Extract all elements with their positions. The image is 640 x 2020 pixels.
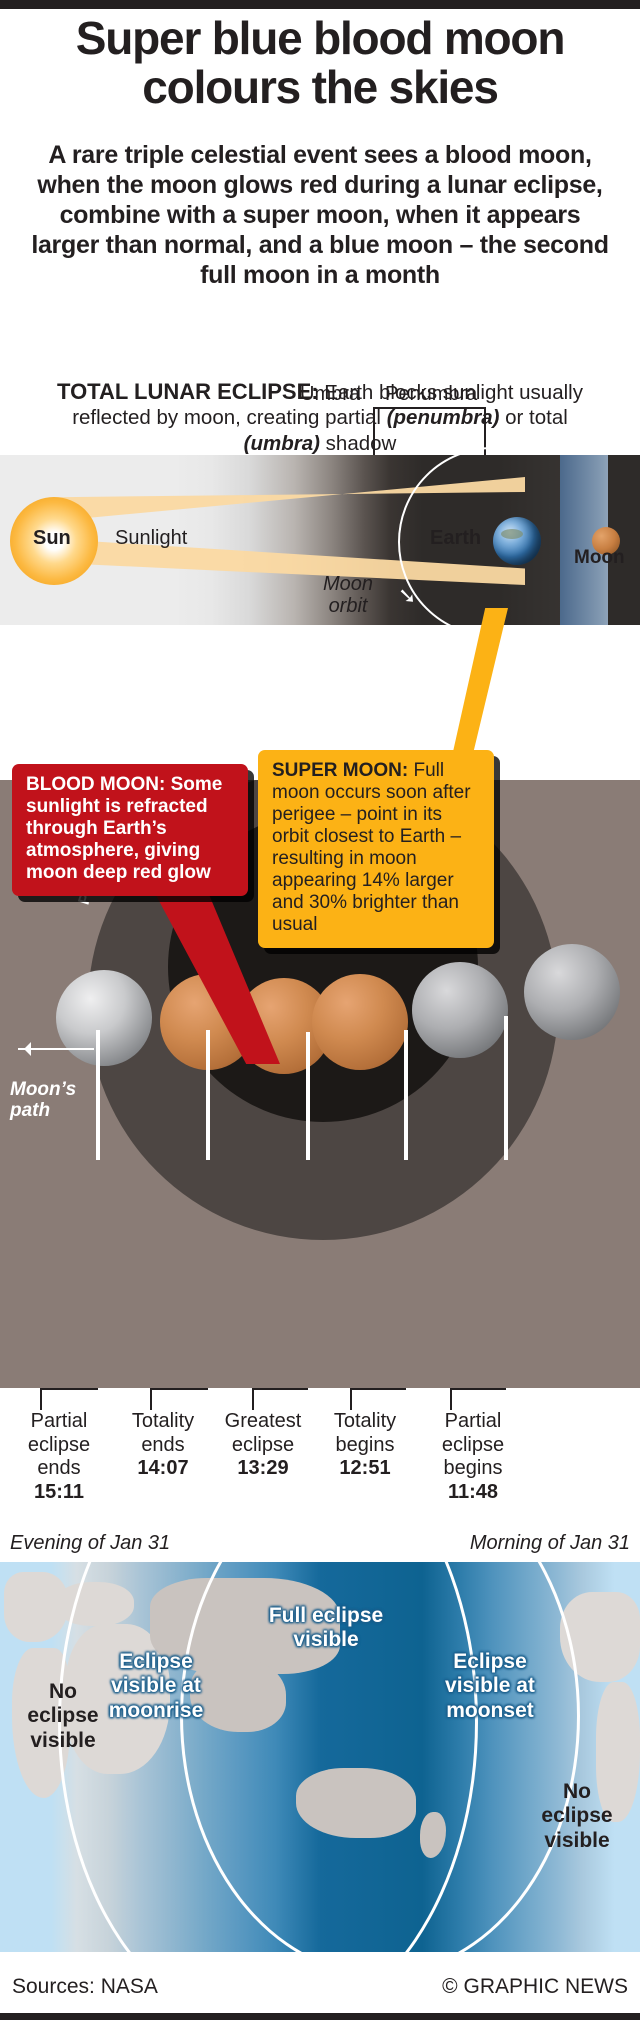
map-label-moonrise: Eclipse visible at moonrise: [86, 1650, 226, 1723]
tick-greatest: [306, 1032, 310, 1160]
umbra-leader-line: [373, 407, 375, 461]
timeline-line1: Partial: [31, 1410, 88, 1432]
page-title: Super blue blood moon colours the skies: [0, 14, 640, 112]
hook-v-1: [150, 1388, 152, 1410]
standfirst-text: A rare triple celestial event sees a blo…: [28, 140, 612, 290]
timeline-time: 11:48: [418, 1481, 528, 1505]
eclipse-caption-body-3: shadow: [320, 432, 396, 455]
blood-moon-callout: BLOOD MOON: Some sunlight is refracted t…: [12, 764, 248, 896]
eclipse-timeline: Partial eclipse ends 15:11 Totality ends…: [0, 1388, 640, 1518]
umbra-leader-line-h: [373, 407, 449, 409]
hook-v-4: [450, 1388, 452, 1410]
super-moon-title: SUPER MOON:: [272, 760, 408, 781]
timeline-line1: Partial: [445, 1410, 502, 1432]
timeline-line3: ends: [37, 1457, 80, 1479]
moon-orbit-label: Moon orbit: [323, 573, 373, 617]
moon-orbit-line2: orbit: [329, 595, 368, 617]
morning-label: Morning of Jan 31: [470, 1532, 630, 1555]
timeline-line1: Greatest: [225, 1410, 302, 1432]
credit-label: © GRAPHIC NEWS: [442, 1975, 628, 1999]
hook-h-3: [350, 1388, 406, 1390]
moon-phase-partial-begin: [412, 962, 508, 1058]
moons-path-label: Moon’s path: [10, 1080, 76, 1122]
timeline-item: Totality begins 12:51: [310, 1410, 420, 1481]
sun-earth-moon-diagram: Umbra Penumbra ➘ Sun Sunlight Earth Moon…: [0, 455, 640, 625]
moon-phase-totality-begin: [312, 974, 408, 1070]
timeline-line2: eclipse: [232, 1434, 294, 1456]
timeline-item: Totality ends 14:07: [108, 1410, 218, 1481]
hook-h-1: [150, 1388, 208, 1390]
sun-label: Sun: [33, 527, 71, 550]
orbit-arrow-icon: ➘: [398, 583, 416, 609]
hook-h-4: [450, 1388, 506, 1390]
timeline-line2: begins: [336, 1434, 395, 1456]
visibility-map: No eclipse visible Eclipse visible at mo…: [0, 1562, 640, 1952]
tick-partial-end: [96, 1030, 100, 1160]
timeline-line3: begins: [444, 1457, 503, 1479]
timeline-item: Partial eclipse begins 11:48: [418, 1410, 528, 1504]
timeline-time: 14:07: [108, 1457, 218, 1481]
day-labels: Evening of Jan 31 Morning of Jan 31: [0, 1532, 640, 1555]
moon-phase-offscreen: [524, 944, 620, 1040]
moons-path-line1: Moon’s: [10, 1079, 76, 1100]
sources-label: Sources: NASA: [12, 1975, 158, 1999]
sunlight-label: Sunlight: [115, 527, 187, 550]
eclipse-caption-umbra: (umbra): [244, 432, 320, 455]
tick-totality-begin: [404, 1030, 408, 1160]
map-label-moonset: Eclipse visible at moonset: [420, 1650, 560, 1723]
top-rule: [0, 0, 640, 9]
timeline-item: Partial eclipse ends 15:11: [4, 1410, 114, 1504]
penumbra-leader-line-h: [448, 407, 486, 409]
footer: Sources: NASA © GRAPHIC NEWS: [0, 1961, 640, 2013]
timeline-line2: eclipse: [442, 1434, 504, 1456]
moon-label: Moon: [574, 547, 625, 569]
moon-phase-partial-end: [56, 970, 152, 1066]
timeline-line2: ends: [141, 1434, 184, 1456]
timeline-item: Greatest eclipse 13:29: [208, 1410, 318, 1481]
evening-label: Evening of Jan 31: [10, 1532, 170, 1555]
timeline-line2: eclipse: [28, 1434, 90, 1456]
hook-v-2: [252, 1388, 254, 1410]
timeline-line1: Totality: [132, 1410, 194, 1432]
map-label-full-eclipse: Full eclipse visible: [236, 1604, 416, 1653]
moon-path-arrow-icon: [18, 1048, 94, 1050]
hook-h-2: [252, 1388, 308, 1390]
map-label-no-eclipse-right: No eclipse visible: [528, 1780, 626, 1853]
earth-label: Earth: [430, 527, 481, 550]
tick-totality-end: [206, 1030, 210, 1160]
earth-icon: [493, 517, 541, 565]
tick-partial-begin: [504, 1016, 508, 1160]
timeline-time: 15:11: [4, 1481, 114, 1505]
hook-h-0: [40, 1388, 98, 1390]
super-moon-text: Full moon occurs soon after perigee – po…: [272, 760, 471, 935]
eclipse-caption-penumbra: (penumbra): [387, 406, 500, 429]
hook-v-3: [350, 1388, 352, 1410]
bottom-rule: [0, 2013, 640, 2020]
moon-orbit-line1: Moon: [323, 573, 373, 595]
timeline-time: 13:29: [208, 1457, 318, 1481]
umbra-label: Umbra: [300, 383, 360, 406]
moons-path-line2: path: [10, 1100, 50, 1121]
penumbra-label: Penumbra: [385, 383, 477, 406]
eclipse-caption-body-2: or total: [499, 406, 567, 429]
blood-moon-title: BLOOD MOON:: [26, 774, 165, 795]
hook-v-0: [40, 1388, 42, 1410]
timeline-line1: Totality: [334, 1410, 396, 1432]
eclipse-caption-title: TOTAL LUNAR ECLIPSE:: [57, 379, 319, 404]
super-moon-callout: SUPER MOON: Full moon occurs soon after …: [258, 750, 494, 948]
timeline-time: 12:51: [310, 1457, 420, 1481]
